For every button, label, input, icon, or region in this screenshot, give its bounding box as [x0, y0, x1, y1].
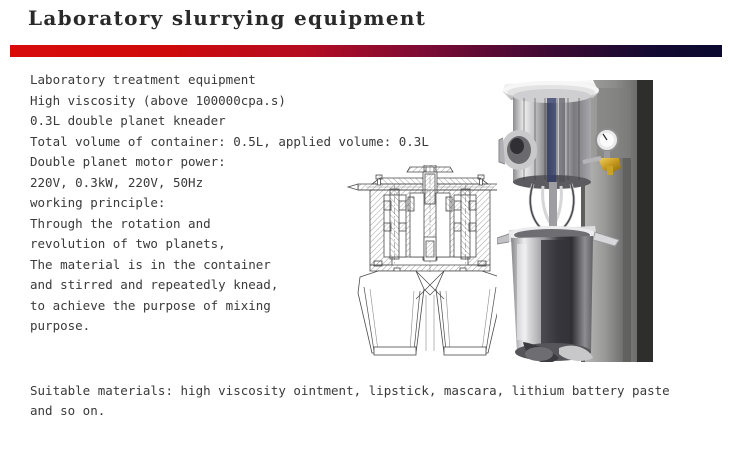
gradient-divider	[10, 45, 722, 57]
product-description-page: Laboratory slurrying equipment Laborator…	[0, 0, 730, 450]
double-planetary-mixer-cross-section-drawing	[340, 165, 520, 365]
spec-line: and stirred and repeatedly knead,	[30, 275, 360, 296]
spec-line: Double planet motor power:	[30, 152, 360, 173]
footer-line: and so on.	[30, 401, 700, 421]
page-title: Laboratory slurrying equipment	[28, 6, 426, 30]
spec-line: High viscosity (above 100000cpa.s)	[30, 91, 360, 112]
suitable-materials-text: Suitable materials: high viscosity ointm…	[30, 381, 700, 421]
spec-line: The material is in the container	[30, 255, 360, 276]
spec-line: working principle:	[30, 193, 360, 214]
specification-text-block: Laboratory treatment equipment High visc…	[30, 70, 360, 337]
spec-line: Laboratory treatment equipment	[30, 70, 360, 91]
spec-line: revolution of two planets,	[30, 234, 360, 255]
spec-line: 220V, 0.3kW, 220V, 50Hz	[30, 173, 360, 194]
footer-line: Suitable materials: high viscosity ointm…	[30, 381, 700, 401]
laboratory-planetary-mixer-photo	[497, 62, 653, 370]
spec-line: 0.3L double planet kneader	[30, 111, 360, 132]
spec-line: to achieve the purpose of mixing	[30, 296, 360, 317]
spec-line: Total volume of container: 0.5L, applied…	[30, 132, 360, 153]
spec-line: Through the rotation and	[30, 214, 360, 235]
spec-line: purpose.	[30, 316, 360, 337]
